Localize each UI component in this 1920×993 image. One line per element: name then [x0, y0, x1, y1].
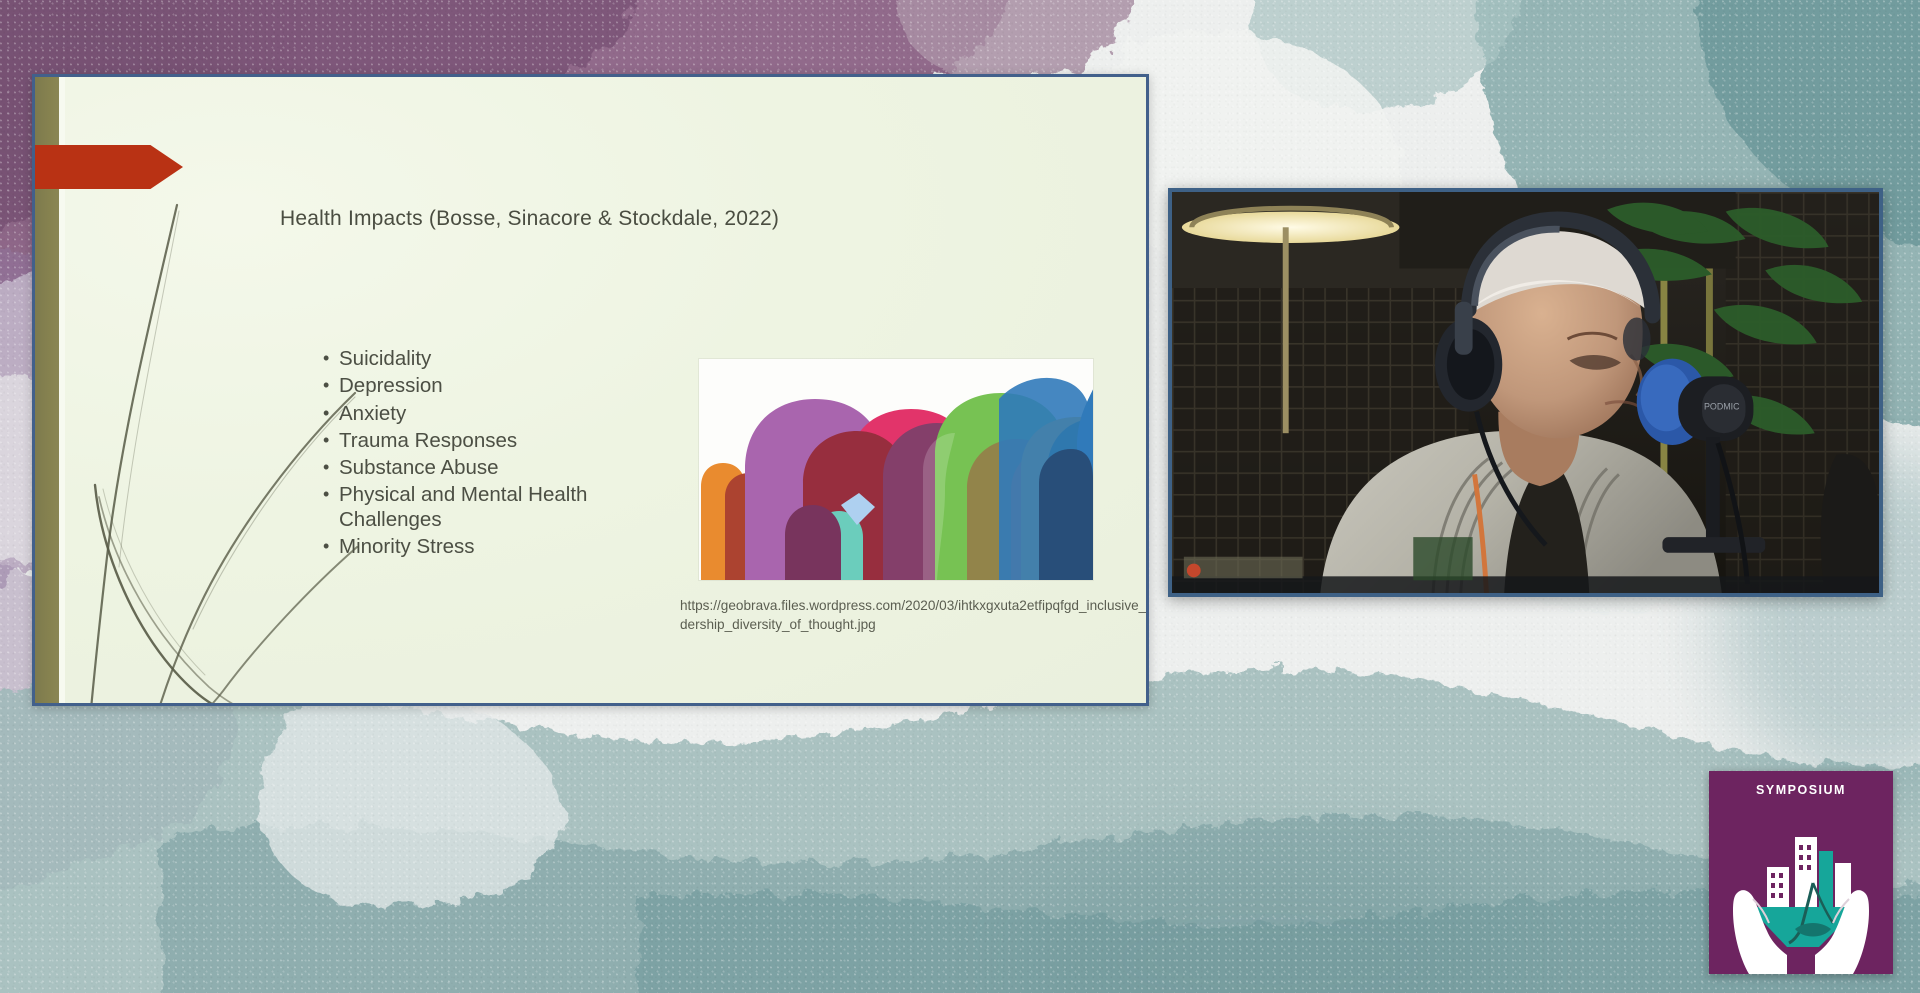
bullet-item: Depression [323, 374, 643, 399]
diversity-silhouettes-image [699, 359, 1093, 580]
symposium-logo-card[interactable]: SYMPOSIUM [1709, 771, 1893, 974]
presentation-slide[interactable]: Health Impacts (Bosse, Sinacore & Stockd… [32, 74, 1149, 706]
presenter-video-frame: PODMIC [1172, 192, 1879, 593]
bullet-item: Substance Abuse [323, 456, 643, 481]
presenter-video-panel[interactable]: PODMIC [1168, 188, 1883, 597]
bullet-item: Physical and Mental Health Challenges [323, 483, 643, 533]
diversity-silhouettes-svg [699, 359, 1093, 580]
stream-stage: Health Impacts (Bosse, Sinacore & Stockd… [0, 0, 1920, 993]
bullet-item: Suicidality [323, 347, 643, 372]
bullet-item: Minority Stress [323, 535, 643, 560]
bullet-item: Trauma Responses [323, 429, 643, 454]
image-credit-url: https://geobrava.files.wordpress.com/202… [680, 596, 1149, 634]
slide-bullet-list: Suicidality Depression Anxiety Trauma Re… [323, 347, 643, 563]
symposium-logo-graphic [1709, 771, 1893, 974]
slide-title: Health Impacts (Bosse, Sinacore & Stockd… [280, 207, 779, 231]
svg-text:PODMIC: PODMIC [1704, 402, 1740, 412]
logo-title: SYMPOSIUM [1709, 783, 1893, 797]
bullet-item: Anxiety [323, 402, 643, 427]
